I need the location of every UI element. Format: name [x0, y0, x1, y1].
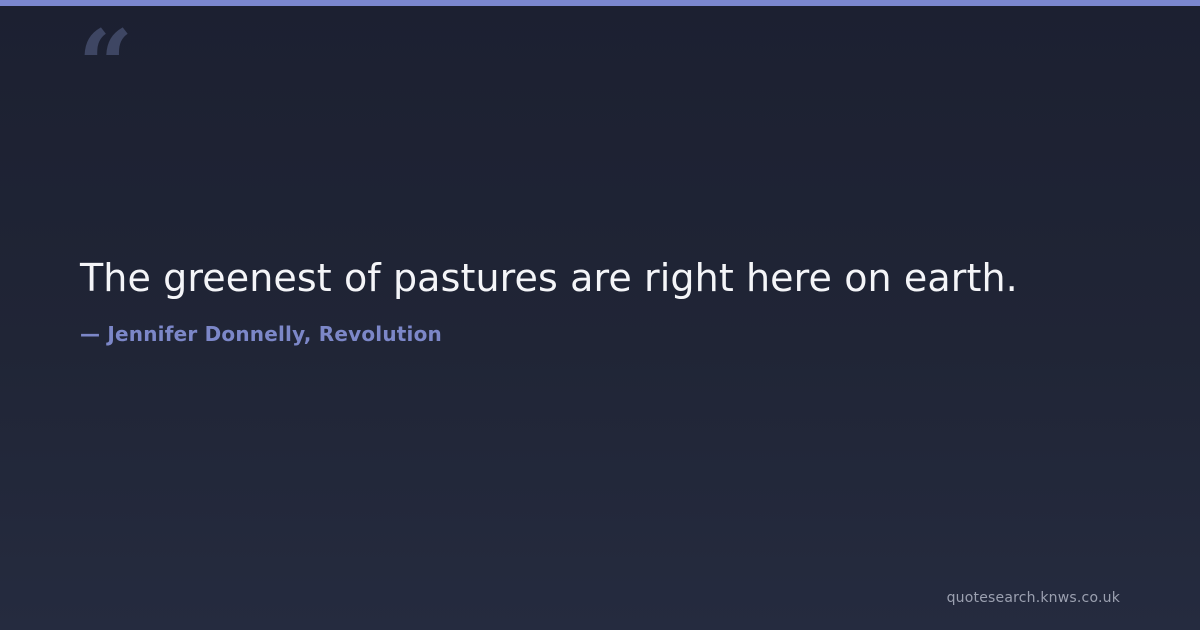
quotation-mark-icon: “: [78, 18, 131, 114]
quote-attribution: — Jennifer Donnelly, Revolution: [80, 322, 1120, 346]
top-accent-bar: [0, 0, 1200, 6]
source-url-label: quotesearch.knws.co.uk: [947, 590, 1120, 606]
quote-content: The greenest of pastures are right here …: [80, 253, 1120, 346]
quote-card: “ The greenest of pastures are right her…: [0, 0, 1200, 630]
attribution-dash: —: [80, 322, 100, 346]
attribution-label: Jennifer Donnelly, Revolution: [107, 322, 442, 346]
quote-text: The greenest of pastures are right here …: [80, 253, 1120, 303]
